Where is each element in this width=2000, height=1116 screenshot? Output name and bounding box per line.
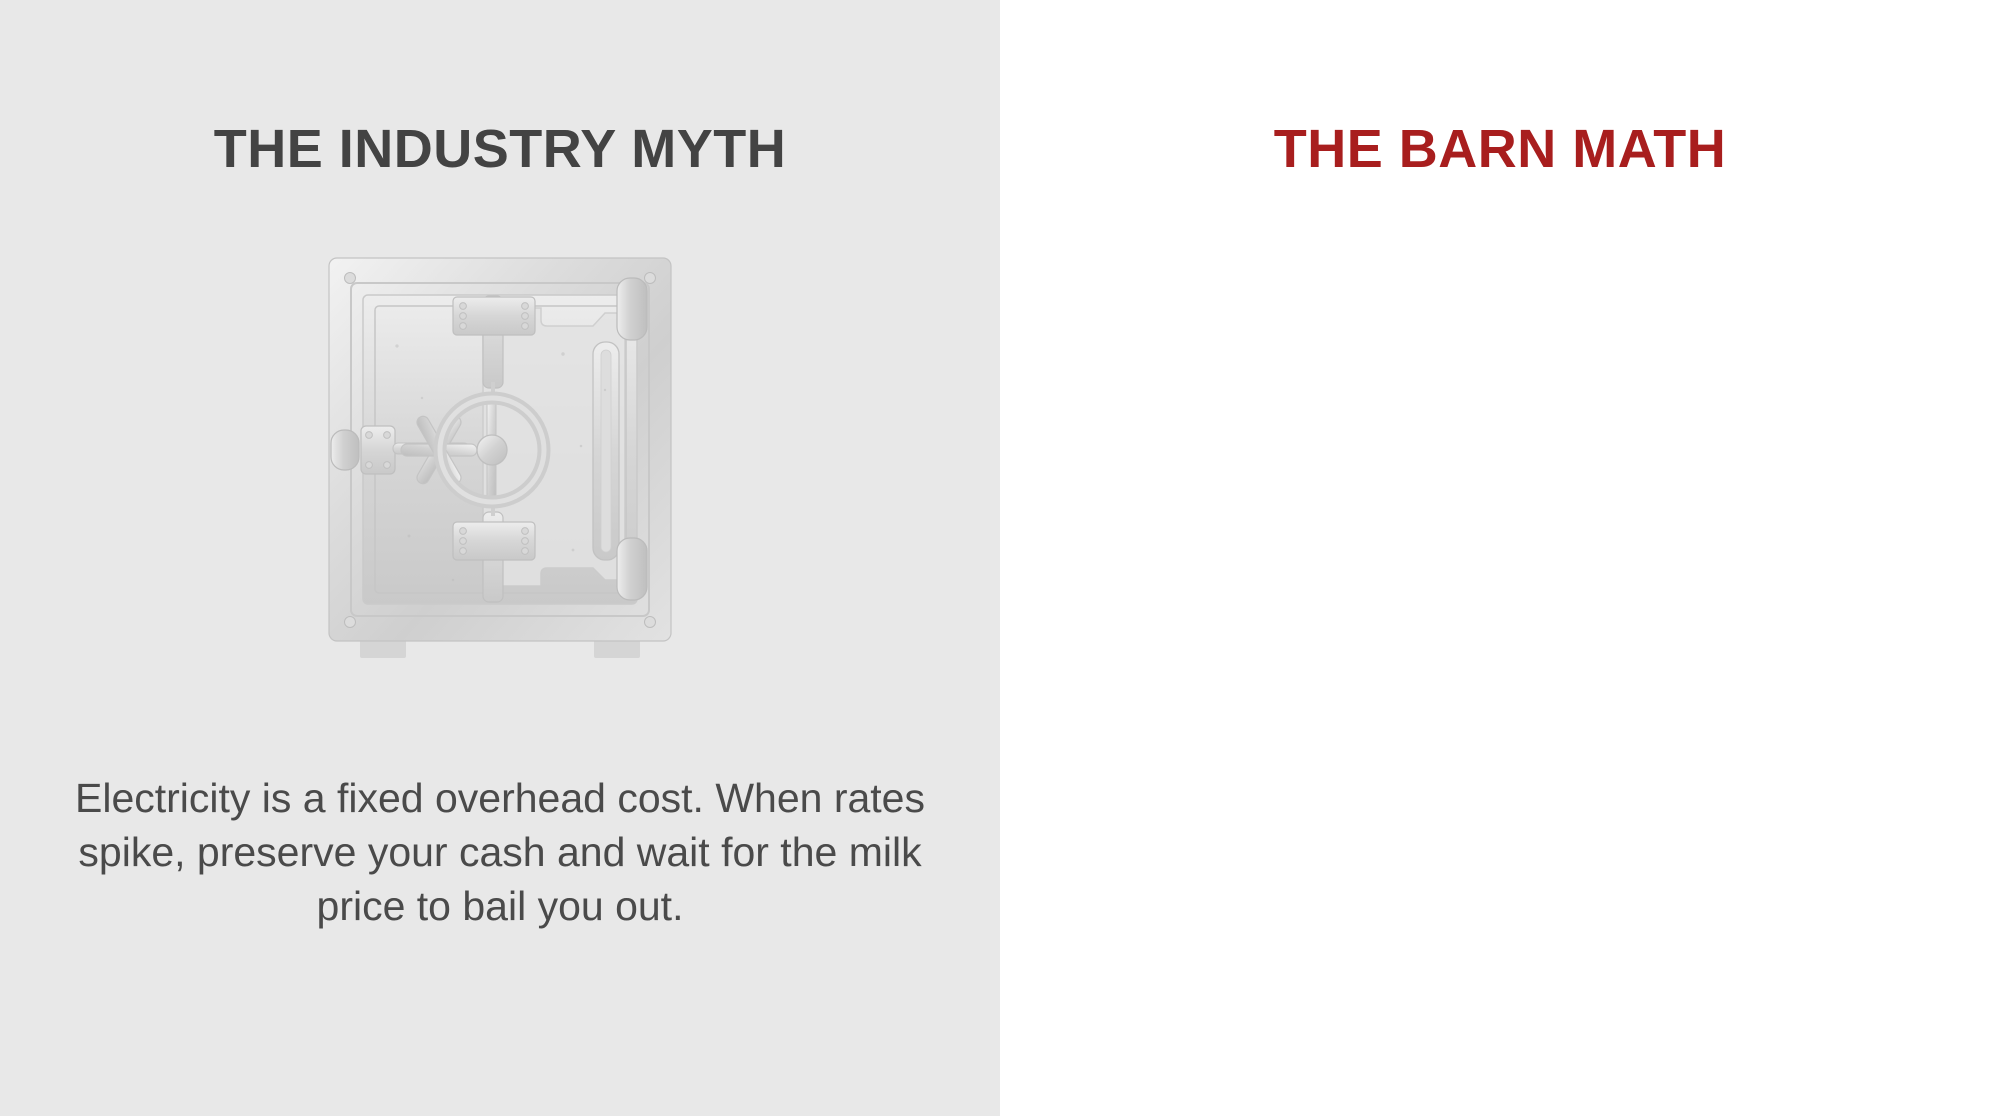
panel-industry-myth: THE INDUSTRY MYTH — [0, 0, 1000, 1116]
panel-barn-math: THE BARN MATH Baseline Flat Rate — [1000, 0, 2000, 1116]
page-title-left: THE INDUSTRY MYTH — [0, 118, 1000, 180]
body-text-left: Electricity is a fixed overhead cost. Wh… — [60, 771, 940, 933]
page-title-right: THE BARN MATH — [1000, 118, 2000, 180]
safe-vault-illustration — [305, 250, 695, 670]
safe-vault-icon — [305, 250, 695, 670]
comparison-slide: THE INDUSTRY MYTH — [0, 0, 2000, 1116]
